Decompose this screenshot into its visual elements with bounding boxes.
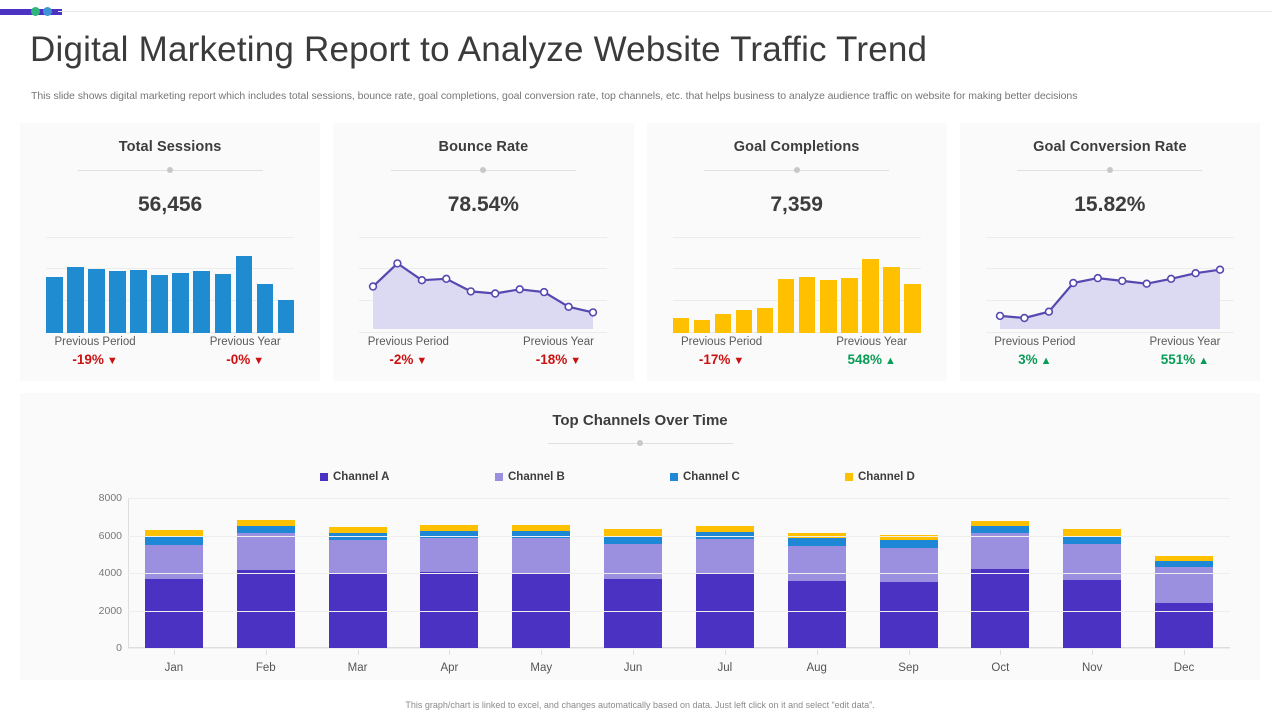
kpi-value: 78.54% <box>448 193 519 217</box>
page-title: Digital Marketing Report to Analyze Webs… <box>30 30 927 70</box>
kpi-prev-period-change: -2% ▼ <box>333 352 483 367</box>
sparkline-bar <box>67 267 84 333</box>
kpi-footer: Previous Period3% ▲Previous Year551% ▲ <box>960 336 1260 367</box>
sparkline-bar <box>109 271 126 333</box>
header-rule <box>58 11 1272 12</box>
kpi-prev-year-label: Previous Year <box>797 336 947 348</box>
kpi-prev-year-change: -18% ▼ <box>483 352 633 367</box>
panel-title: Top Channels Over Time <box>20 412 1260 429</box>
kpi-footer: Previous Period-17% ▼Previous Year548% ▲ <box>647 336 947 367</box>
bar-segment-channel-c <box>1063 537 1121 545</box>
kpi-card-total-sessions: Total Sessions56,456Previous Period-19% … <box>20 123 320 381</box>
arrow-up-icon: ▲ <box>1195 355 1209 367</box>
sparkline-bar <box>193 271 210 333</box>
gridline <box>128 648 1230 649</box>
x-axis-tick <box>358 650 359 655</box>
bar-segment-channel-a <box>1063 580 1121 648</box>
bar-segment-channel-a <box>604 579 662 648</box>
sparkline-bars <box>46 237 294 333</box>
kpi-sparkline <box>46 237 294 333</box>
stacked-bar <box>971 521 1029 649</box>
kpi-prev-period-label: Previous Period <box>647 336 797 348</box>
slide-root: Digital Marketing Report to Analyze Webs… <box>0 0 1280 720</box>
arrow-up-icon: ▲ <box>882 355 896 367</box>
arrow-down-icon: ▼ <box>250 355 264 367</box>
sparkline-bar <box>862 259 879 333</box>
kpi-footer: Previous Period-2% ▼Previous Year-18% ▼ <box>333 336 633 367</box>
bar-segment-channel-b <box>512 538 570 573</box>
gridline <box>128 536 1230 537</box>
y-axis-tick-label: 8000 <box>80 492 122 504</box>
sparkline-bar <box>46 277 63 333</box>
x-axis-tick-label: Jul <box>679 662 771 674</box>
change-value: -18% <box>536 352 568 367</box>
legend-swatch-icon <box>670 473 678 481</box>
sparkline-bars <box>673 237 921 333</box>
divider-dot-icon <box>167 167 173 173</box>
x-axis-tick-label: Oct <box>954 662 1046 674</box>
legend-swatch-icon <box>845 473 853 481</box>
kpi-divider <box>391 165 576 175</box>
legend-label: Channel B <box>508 471 565 483</box>
sparkline-bar <box>694 320 711 333</box>
sparkline-bar <box>904 284 921 333</box>
x-axis-tick-label: Nov <box>1046 662 1138 674</box>
sparkline-bar <box>236 256 253 333</box>
sparkline-bar <box>841 278 858 333</box>
x-axis-tick-label: Jan <box>128 662 220 674</box>
kpi-card-bounce-rate: Bounce Rate78.54%Previous Period-2% ▼Pre… <box>333 123 633 381</box>
x-axis-tick-label: Dec <box>1138 662 1230 674</box>
bar-segment-channel-c <box>788 538 846 546</box>
divider-dot-icon <box>480 167 486 173</box>
x-axis-tick-label: Jun <box>587 662 679 674</box>
sparkline-bar <box>88 269 105 333</box>
bar-segment-channel-b <box>880 548 938 583</box>
bar-segment-channel-b <box>971 533 1029 568</box>
x-axis-tick <box>449 650 450 655</box>
change-value: 3% <box>1018 352 1038 367</box>
kpi-title: Goal Conversion Rate <box>1033 139 1186 155</box>
kpi-divider <box>78 165 263 175</box>
gridline <box>128 498 1230 499</box>
kpi-title: Total Sessions <box>119 139 222 155</box>
bar-segment-channel-c <box>604 536 662 544</box>
legend-label: Channel A <box>333 471 389 483</box>
kpi-prev-period-change: -19% ▼ <box>20 352 170 367</box>
arrow-down-icon: ▼ <box>413 355 427 367</box>
change-value: -0% <box>226 352 250 367</box>
x-axis-tick <box>541 650 542 655</box>
gridline <box>128 611 1230 612</box>
stacked-bar <box>329 527 387 648</box>
sparkline-bar <box>130 270 147 333</box>
divider-dot-icon <box>1107 167 1113 173</box>
x-axis-tick <box>1000 650 1001 655</box>
arrow-down-icon: ▼ <box>104 355 118 367</box>
kpi-prev-period-change: 3% ▲ <box>960 352 1110 367</box>
blue-dot-icon <box>43 7 52 16</box>
bar-segment-channel-b <box>420 538 478 572</box>
kpi-card-row: Total Sessions56,456Previous Period-19% … <box>20 123 1260 381</box>
kpi-prev-period: Previous Period-17% ▼ <box>647 336 797 367</box>
legend-item-channel-a[interactable]: Channel A <box>320 471 495 483</box>
kpi-prev-year-label: Previous Year <box>170 336 320 348</box>
bar-segment-channel-b <box>788 546 846 581</box>
sparkline-bar <box>736 310 753 333</box>
x-axis-tick <box>909 650 910 655</box>
x-axis-tick-label: Apr <box>403 662 495 674</box>
change-value: 548% <box>847 352 882 367</box>
legend-swatch-icon <box>495 473 503 481</box>
sparkline-bar <box>820 280 837 333</box>
kpi-prev-period-label: Previous Period <box>960 336 1110 348</box>
sparkline-bar <box>883 267 900 333</box>
kpi-card-goal-completions: Goal Completions7,359Previous Period-17%… <box>647 123 947 381</box>
sparkline-bar <box>215 274 232 333</box>
x-axis-tick <box>633 650 634 655</box>
x-axis-tick-label: Mar <box>312 662 404 674</box>
x-axis-tick <box>817 650 818 655</box>
x-axis-tick-label: May <box>495 662 587 674</box>
x-axis-tick <box>1184 650 1185 655</box>
chart-legend: Channel AChannel BChannel CChannel D <box>320 471 1020 483</box>
x-axis-tick <box>1092 650 1093 655</box>
bar-segment-channel-b <box>696 539 754 574</box>
bar-segment-channel-a <box>880 582 938 648</box>
change-value: -17% <box>699 352 731 367</box>
kpi-title: Bounce Rate <box>439 139 529 155</box>
kpi-prev-year-label: Previous Year <box>1110 336 1260 348</box>
bar-segment-channel-c <box>880 540 938 547</box>
arrow-down-icon: ▼ <box>567 355 581 367</box>
stacked-bar <box>237 520 295 648</box>
kpi-value: 56,456 <box>138 193 202 217</box>
stacked-bar <box>420 525 478 648</box>
kpi-prev-period: Previous Period-19% ▼ <box>20 336 170 367</box>
sparkline-bar <box>778 279 795 333</box>
gridline <box>128 573 1230 574</box>
legend-label: Channel D <box>858 471 915 483</box>
kpi-sparkline <box>986 237 1234 333</box>
kpi-prev-period: Previous Period3% ▲ <box>960 336 1110 367</box>
stacked-bar <box>1155 556 1213 648</box>
legend-item-channel-b[interactable]: Channel B <box>495 471 670 483</box>
bar-segment-channel-b <box>1063 544 1121 579</box>
y-axis-tick-label: 4000 <box>80 567 122 579</box>
change-value: 551% <box>1161 352 1196 367</box>
bar-segment-channel-a <box>145 579 203 648</box>
divider-dot-icon <box>637 440 643 446</box>
x-axis-tick <box>174 650 175 655</box>
sparkline-bar <box>172 273 189 333</box>
stacked-bar-chart: JanFebMarAprMayJunJulAugSepOctNovDec 020… <box>80 498 1240 648</box>
sparkline-bar <box>673 318 690 333</box>
stacked-bar <box>512 525 570 648</box>
kpi-prev-year-change: 548% ▲ <box>797 352 947 367</box>
kpi-prev-period: Previous Period-2% ▼ <box>333 336 483 367</box>
stacked-bar <box>696 526 754 648</box>
kpi-prev-year: Previous Year548% ▲ <box>797 336 947 367</box>
bar-segment-channel-c <box>512 531 570 539</box>
y-axis-tick-label: 6000 <box>80 530 122 542</box>
legend-swatch-icon <box>320 473 328 481</box>
kpi-divider <box>1017 165 1202 175</box>
kpi-value: 7,359 <box>770 193 823 217</box>
kpi-prev-period-label: Previous Period <box>333 336 483 348</box>
legend-item-channel-d[interactable]: Channel D <box>845 471 1020 483</box>
stacked-bar <box>1063 529 1121 648</box>
bar-segment-channel-a <box>788 581 846 648</box>
bar-segment-channel-c <box>145 537 203 545</box>
kpi-divider <box>704 165 889 175</box>
legend-item-channel-c[interactable]: Channel C <box>670 471 845 483</box>
arrow-up-icon: ▲ <box>1038 355 1052 367</box>
bar-segment-channel-b <box>237 533 295 570</box>
sparkline-bar <box>757 308 774 333</box>
arrow-down-icon: ▼ <box>730 355 744 367</box>
stacked-bar <box>145 530 203 648</box>
sparkline-bar <box>257 284 274 334</box>
stacked-bar <box>788 533 846 649</box>
bar-segment-channel-c <box>237 526 295 534</box>
sparkline-bar <box>278 300 295 333</box>
kpi-footer: Previous Period-19% ▼Previous Year-0% ▼ <box>20 336 320 367</box>
y-axis-tick-label: 2000 <box>80 605 122 617</box>
x-axis-tick-label: Aug <box>771 662 863 674</box>
kpi-value: 15.82% <box>1074 193 1145 217</box>
stacked-bar <box>880 535 938 648</box>
sparkline-bar <box>715 314 732 333</box>
kpi-prev-year: Previous Year-18% ▼ <box>483 336 633 367</box>
kpi-prev-period-label: Previous Period <box>20 336 170 348</box>
kpi-prev-year: Previous Year551% ▲ <box>1110 336 1260 367</box>
page-subtitle: This slide shows digital marketing repor… <box>31 90 1256 102</box>
kpi-prev-year: Previous Year-0% ▼ <box>170 336 320 367</box>
bar-segment-channel-b <box>329 540 387 574</box>
top-channels-panel: Top Channels Over Time Channel AChannel … <box>20 393 1260 680</box>
kpi-prev-year-label: Previous Year <box>483 336 633 348</box>
kpi-card-goal-conversion-rate: Goal Conversion Rate15.82%Previous Perio… <box>960 123 1260 381</box>
top-decoration <box>0 6 1280 18</box>
change-value: -2% <box>389 352 413 367</box>
x-axis-tick-label: Sep <box>863 662 955 674</box>
kpi-title: Goal Completions <box>734 139 860 155</box>
kpi-sparkline <box>673 237 921 333</box>
change-value: -19% <box>72 352 104 367</box>
divider-dot-icon <box>794 167 800 173</box>
legend-label: Channel C <box>683 471 740 483</box>
x-axis-tick-label: Feb <box>220 662 312 674</box>
stacked-bar <box>604 529 662 648</box>
sparkline-bar <box>799 277 816 333</box>
green-dot-icon <box>31 7 40 16</box>
bar-segment-channel-a <box>237 570 295 648</box>
kpi-prev-period-change: -17% ▼ <box>647 352 797 367</box>
x-axis-tick <box>725 650 726 655</box>
panel-divider <box>548 438 733 448</box>
x-axis-tick <box>266 650 267 655</box>
kpi-sparkline <box>359 237 607 333</box>
kpi-prev-year-change: 551% ▲ <box>1110 352 1260 367</box>
bar-segment-channel-c <box>971 526 1029 534</box>
kpi-prev-year-change: -0% ▼ <box>170 352 320 367</box>
bar-segment-channel-a <box>971 569 1029 648</box>
y-axis-tick-label: 0 <box>80 642 122 654</box>
footer-note: This graph/chart is linked to excel, and… <box>0 700 1280 710</box>
sparkline-bar <box>151 275 168 333</box>
